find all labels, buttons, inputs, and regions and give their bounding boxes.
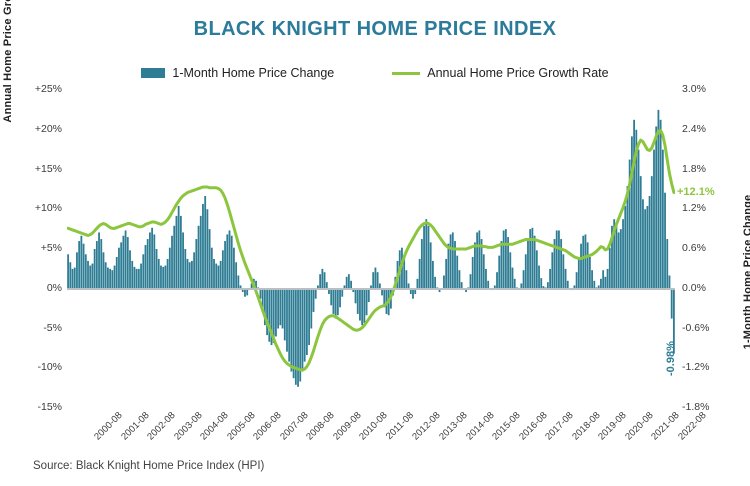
right-axis-tick: 0.6%	[682, 242, 737, 254]
bar-datapoint	[178, 206, 180, 289]
bar-datapoint	[180, 216, 182, 289]
bar-datapoint	[375, 268, 377, 289]
bar-datapoint	[187, 259, 189, 289]
bar-datapoint	[200, 216, 202, 289]
bar-datapoint	[160, 266, 162, 289]
bar-datapoint	[85, 254, 87, 288]
bar-datapoint	[118, 248, 120, 289]
bar-datapoint	[525, 254, 527, 288]
zero-baseline	[67, 288, 675, 290]
bar-datapoint	[330, 289, 332, 306]
bar-datapoint	[136, 269, 138, 289]
bar-datapoint	[485, 269, 487, 289]
right-axis-ticks: 3.0%2.4%1.8%1.2%0.6%0.0%-0.6%-1.2%-1.8%	[682, 0, 742, 486]
bar-datapoint	[96, 241, 98, 289]
bar-datapoint	[315, 289, 317, 299]
bar-datapoint	[122, 236, 124, 289]
bar-datapoint	[341, 289, 343, 297]
bar-datapoint	[268, 289, 270, 342]
left-axis-tick: +15%	[7, 163, 62, 175]
bar-datapoint	[666, 239, 668, 289]
bar-datapoint	[428, 226, 430, 289]
bar-datapoint	[233, 248, 235, 289]
bar-datapoint	[306, 289, 308, 355]
bar-datapoint	[631, 136, 633, 288]
left-axis-tick: 0%	[7, 282, 62, 294]
bar-datapoint	[633, 120, 635, 289]
x-axis-tick: 2011-08	[384, 410, 416, 442]
bar-datapoint	[527, 239, 529, 289]
bar-datapoint	[72, 269, 74, 289]
bar-datapoint	[313, 289, 315, 312]
bar-datapoint	[339, 289, 341, 308]
bar-datapoint	[580, 244, 582, 289]
bar-datapoint	[355, 289, 357, 304]
x-axis-tick: 2008-08	[305, 410, 337, 442]
bar-datapoint	[288, 289, 290, 362]
bar-datapoint	[308, 289, 310, 345]
x-axis-tick: 2007-08	[278, 410, 310, 442]
bar-datapoint	[620, 229, 622, 289]
bar-datapoint	[558, 230, 560, 288]
bar-datapoint	[291, 289, 293, 372]
x-axis-tick: 2015-08	[490, 410, 522, 442]
bar-datapoint	[171, 236, 173, 289]
bar-datapoint	[140, 264, 142, 289]
bar-datapoint	[204, 196, 206, 289]
x-axis-tick: 2001-08	[119, 410, 151, 442]
bar-datapoint	[551, 252, 553, 288]
bar-datapoint	[609, 248, 611, 289]
bar-datapoint	[649, 196, 651, 289]
bar-datapoint	[589, 257, 591, 289]
right-axis-tick: -1.8%	[682, 401, 737, 413]
bar-datapoint	[282, 289, 284, 329]
bar-datapoint	[125, 230, 127, 288]
bar-datapoint	[103, 252, 105, 288]
bar-datapoint	[368, 289, 370, 302]
right-axis-tick: 2.4%	[682, 123, 737, 135]
bar-datapoint	[644, 209, 646, 289]
bar-datapoint	[505, 229, 507, 289]
bar-datapoint	[669, 276, 671, 289]
bar-datapoint	[158, 259, 160, 289]
bar-datapoint	[538, 266, 540, 289]
bar-datapoint	[432, 261, 434, 289]
bar-datapoint	[456, 256, 458, 289]
bar-datapoint	[616, 226, 618, 289]
bar-datapoint	[80, 236, 82, 289]
bar-datapoint	[295, 289, 297, 385]
x-axis-tick: 2021-08	[649, 410, 681, 442]
bar-datapoint	[638, 150, 640, 289]
bar-datapoint	[321, 269, 323, 289]
bar-datapoint	[618, 232, 620, 288]
bar-datapoint	[607, 269, 609, 289]
bar-datapoint	[412, 289, 414, 299]
bar-datapoint	[310, 289, 312, 329]
bar-datapoint	[452, 232, 454, 288]
bar-datapoint	[357, 289, 359, 314]
bar-datapoint	[156, 249, 158, 289]
bar-datapoint	[142, 254, 144, 288]
bar-datapoint	[562, 254, 564, 288]
bar-datapoint	[556, 230, 558, 288]
x-axis-tick: 2009-08	[331, 410, 363, 442]
bar-datapoint	[319, 274, 321, 289]
bar-datapoint	[134, 267, 136, 289]
x-axis-tick: 2016-08	[517, 410, 549, 442]
bar-datapoint	[105, 262, 107, 289]
left-axis-tick: +10%	[7, 202, 62, 214]
bar-datapoint	[582, 236, 584, 289]
line-swatch-icon	[392, 72, 420, 75]
bar-datapoint	[576, 272, 578, 289]
bar-datapoint	[549, 269, 551, 289]
bar-datapoint	[337, 289, 339, 316]
x-axis-tick: 2010-08	[358, 410, 390, 442]
bar-datapoint	[286, 289, 288, 352]
x-axis-tick: 2012-08	[411, 410, 443, 442]
x-axis-tick: 2006-08	[251, 410, 283, 442]
bar-datapoint	[531, 228, 533, 289]
x-axis-tick: 2019-08	[596, 410, 628, 442]
bar-datapoint	[120, 242, 122, 288]
bar-datapoint	[162, 267, 164, 289]
bar-datapoint	[536, 250, 538, 288]
right-axis-tick: -0.6%	[682, 322, 737, 334]
bar-datapoint	[279, 289, 281, 325]
bar-datapoint	[578, 257, 580, 289]
bar-datapoint	[182, 232, 184, 288]
bar-datapoint	[653, 150, 655, 289]
right-axis-tick: 1.2%	[682, 202, 737, 214]
bar-datapoint	[284, 289, 286, 341]
bar-datapoint	[244, 289, 246, 297]
bar-datapoint	[218, 266, 220, 289]
bar-datapoint	[98, 232, 100, 288]
x-axis-tick: 2000-08	[92, 410, 124, 442]
bar-datapoint	[363, 289, 365, 323]
left-axis-tick: +20%	[7, 123, 62, 135]
bar-datapoint	[215, 264, 217, 289]
bar-datapoint	[602, 270, 604, 289]
left-axis-tick: +25%	[7, 83, 62, 95]
annotation-monthly-change: -0.98%	[665, 341, 677, 376]
bar-datapoint	[67, 254, 69, 288]
bar-datapoint	[224, 241, 226, 289]
bar-datapoint	[443, 276, 445, 289]
x-axis-tick: 2005-08	[225, 410, 257, 442]
bar-datapoint	[235, 262, 237, 289]
bar-datapoint	[138, 269, 140, 289]
bar-datapoint	[664, 193, 666, 289]
bar-datapoint	[450, 234, 452, 288]
bar-datapoint	[131, 261, 133, 289]
bar-datapoint	[445, 259, 447, 289]
bar-datapoint	[622, 219, 624, 289]
bar-datapoint	[483, 254, 485, 288]
legend-item-line[interactable]: Annual Home Price Growth Rate	[392, 66, 608, 80]
bar-datapoint	[260, 289, 262, 299]
x-axis-tick: 2020-08	[623, 410, 655, 442]
bar-datapoint	[89, 266, 91, 289]
series-svg	[67, 90, 675, 408]
bar-datapoint	[211, 248, 213, 289]
bar-datapoint	[476, 232, 478, 288]
bar-datapoint	[459, 270, 461, 289]
bar-datapoint	[176, 216, 178, 289]
bar-datapoint	[671, 289, 673, 319]
bar-datapoint	[496, 272, 498, 289]
bar-datapoint	[503, 230, 505, 288]
left-axis-tick: -15%	[7, 401, 62, 413]
bar-datapoint	[658, 110, 660, 289]
bar-datapoint	[642, 199, 644, 288]
bar-datapoint	[109, 269, 111, 289]
right-axis-tick: 0.0%	[682, 282, 737, 294]
bar-datapoint	[624, 206, 626, 289]
bar-datapoint	[359, 289, 361, 321]
bar-datapoint	[169, 248, 171, 289]
bar-datapoint	[277, 289, 279, 329]
legend-label-line: Annual Home Price Growth Rate	[427, 66, 608, 80]
bar-datapoint	[333, 289, 335, 314]
bar-datapoint	[195, 239, 197, 289]
bar-datapoint	[534, 236, 536, 289]
bar-datapoint	[222, 250, 224, 288]
bar-datapoint	[206, 209, 208, 289]
bar-datapoint	[107, 268, 109, 289]
bar-datapoint	[474, 242, 476, 288]
bar-datapoint	[423, 226, 425, 289]
bar-datapoint	[87, 261, 89, 289]
right-axis-tick: 3.0%	[682, 83, 737, 95]
right-axis-tick: -1.2%	[682, 361, 737, 373]
bar-datapoint	[523, 270, 525, 289]
annotation-annual-growth: +12.1%	[677, 186, 715, 198]
bar-datapoint	[116, 257, 118, 289]
bar-datapoint	[297, 289, 299, 387]
x-axis-tick: 2002-08	[145, 410, 177, 442]
bar-datapoint	[421, 239, 423, 289]
bar-datapoint	[237, 276, 239, 289]
bar-datapoint	[405, 270, 407, 289]
x-axis-tick: 2004-08	[198, 410, 230, 442]
bar-datapoint	[69, 262, 71, 289]
left-axis-tick: +5%	[7, 242, 62, 254]
bar-datapoint	[662, 150, 664, 289]
bar-datapoint	[377, 272, 379, 289]
bar-datapoint	[447, 244, 449, 289]
bar-datapoint	[372, 272, 374, 289]
chart-container: BLACK KNIGHT HOME PRICE INDEX 1-Month Ho…	[0, 0, 750, 486]
bar-datapoint	[655, 126, 657, 288]
bar-datapoint	[191, 261, 193, 289]
bar-datapoint	[74, 268, 76, 289]
bar-datapoint	[646, 206, 648, 289]
bar-datapoint	[585, 234, 587, 288]
bar-datapoint	[304, 289, 306, 362]
bar-datapoint	[94, 249, 96, 289]
bar-datapoint	[640, 176, 642, 289]
legend-label-bar: 1-Month Home Price Change	[172, 66, 334, 80]
bar-datapoint	[470, 274, 472, 289]
bar-datapoint	[425, 219, 427, 289]
plot-area	[67, 90, 675, 408]
bar-datapoint	[100, 239, 102, 289]
bar-datapoint	[660, 120, 662, 289]
bar-datapoint	[335, 289, 337, 319]
x-axis-tick: 2014-08	[464, 410, 496, 442]
bar-datapoint	[472, 257, 474, 289]
bar-datapoint	[213, 259, 215, 289]
bar-datapoint	[627, 186, 629, 289]
bar-datapoint	[145, 245, 147, 289]
bar-datapoint	[478, 230, 480, 288]
bar-datapoint	[324, 272, 326, 289]
bar-datapoint	[501, 241, 503, 289]
bar-datapoint	[127, 237, 129, 289]
bar-datapoint	[419, 259, 421, 289]
bar-datapoint	[153, 234, 155, 288]
bar-datapoint	[299, 289, 301, 382]
left-axis-tick: -10%	[7, 361, 62, 373]
bar-datapoint	[366, 289, 368, 316]
bar-datapoint	[275, 289, 277, 337]
bar-datapoint	[167, 259, 169, 289]
bar-datapoint	[498, 256, 500, 289]
bar-datapoint	[114, 266, 116, 289]
bar-datapoint	[78, 241, 80, 289]
bar-datapoint	[92, 264, 94, 289]
bar-datapoint	[198, 226, 200, 289]
left-axis-tick: -5%	[7, 322, 62, 334]
bar-datapoint	[184, 249, 186, 289]
bar-datapoint	[189, 262, 191, 289]
bar-datapoint	[83, 244, 85, 289]
bar-datapoint	[361, 289, 363, 325]
bar-datapoint	[147, 239, 149, 289]
bar-datapoint	[193, 252, 195, 288]
bar-datapoint	[587, 242, 589, 288]
bar-datapoint	[348, 274, 350, 289]
left-axis-ticks: +25%+20%+15%+10%+5%0%-5%-10%-15%	[0, 0, 62, 486]
page-title: BLACK KNIGHT HOME PRICE INDEX	[0, 18, 750, 41]
bar-datapoint	[129, 250, 131, 288]
bar-datapoint	[293, 289, 295, 378]
legend-item-bar[interactable]: 1-Month Home Price Change	[141, 66, 334, 80]
bar-datapoint	[209, 229, 211, 289]
x-axis-tick: 2017-08	[543, 410, 575, 442]
bar-datapoint	[231, 236, 233, 289]
chart-legend: 1-Month Home Price Change Annual Home Pr…	[0, 66, 750, 80]
x-axis-tick: 2003-08	[172, 410, 204, 442]
bar-datapoint	[173, 226, 175, 289]
x-axis: 2000-082001-082002-082003-082004-082005-…	[67, 408, 675, 468]
bar-datapoint	[226, 234, 228, 288]
bar-datapoint	[591, 270, 593, 289]
bar-datapoint	[220, 261, 222, 289]
x-axis-tick: 2018-08	[570, 410, 602, 442]
bar-datapoint	[149, 232, 151, 288]
bar-datapoint	[430, 242, 432, 288]
right-axis-title: 1-Month Home Price Change	[742, 172, 750, 372]
bar-datapoint	[651, 176, 653, 289]
bar-datapoint	[512, 268, 514, 289]
bar-datapoint	[565, 269, 567, 289]
bar-datapoint	[509, 252, 511, 288]
bar-datapoint	[560, 239, 562, 289]
bar-swatch-icon	[141, 68, 165, 78]
bar-datapoint	[164, 266, 166, 289]
bar-datapoint	[151, 228, 153, 289]
right-axis-tick: 1.8%	[682, 163, 737, 175]
bar-datapoint	[202, 204, 204, 289]
bar-datapoint	[229, 230, 231, 288]
bar-datapoint	[111, 270, 113, 289]
x-axis-tick: 2013-08	[437, 410, 469, 442]
source-note: Source: Black Knight Home Price Index (H…	[33, 460, 264, 472]
bar-datapoint	[76, 252, 78, 288]
bar-datapoint	[302, 289, 304, 372]
bar-datapoint	[266, 289, 268, 335]
